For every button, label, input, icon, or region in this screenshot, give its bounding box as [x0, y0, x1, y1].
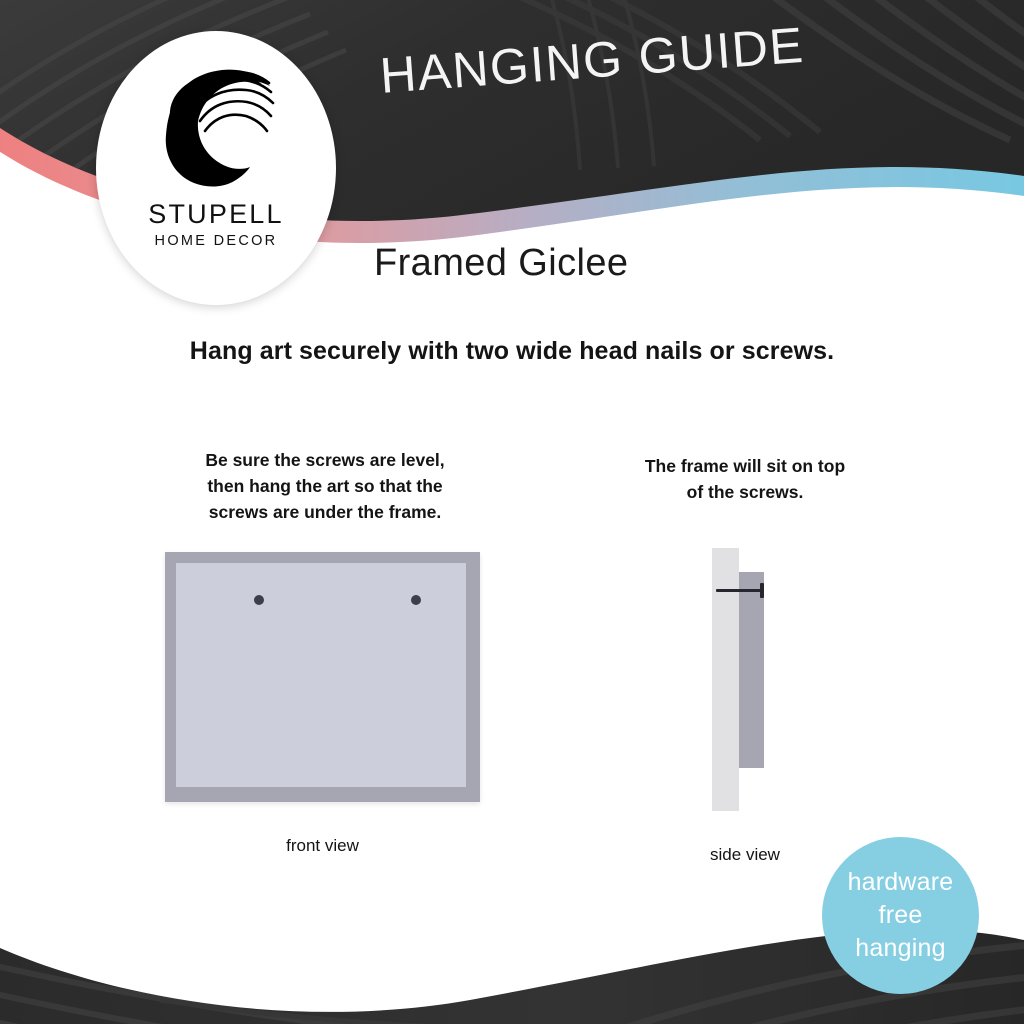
front-caption-line-1: Be sure the screws are level,	[160, 447, 490, 473]
side-caption-line-2: of the screws.	[595, 479, 895, 505]
main-instruction: Hang art securely with two wide head nai…	[0, 337, 1024, 366]
front-view-caption: Be sure the screws are level, then hang …	[160, 447, 490, 525]
frame-mat-area	[176, 563, 466, 787]
brand-name: STUPELL	[148, 199, 283, 230]
hardware-free-hanging-badge: hardware free hanging	[822, 837, 979, 994]
nail-head-icon	[760, 583, 764, 598]
side-view-caption: The frame will sit on top of the screws.	[595, 453, 895, 505]
frame-strip	[739, 572, 764, 768]
brand-logo-badge: STUPELL HOME DECOR	[96, 31, 336, 305]
brand-tagline: HOME DECOR	[155, 233, 278, 249]
front-caption-line-3: screws are under the frame.	[160, 499, 490, 525]
screw-dot-left-icon	[254, 595, 264, 605]
product-type-label: Framed Giclee	[374, 242, 628, 285]
page-title: HANGING GUIDE	[378, 16, 806, 105]
stupell-swoosh-logo-icon	[152, 59, 280, 191]
nail-shaft-icon	[716, 589, 763, 592]
front-view-label: front view	[165, 836, 480, 856]
badge-line-2: free	[879, 899, 923, 932]
badge-line-3: hanging	[855, 932, 945, 965]
front-caption-line-2: then hang the art so that the	[160, 473, 490, 499]
screw-dot-right-icon	[411, 595, 421, 605]
side-view-frame-diagram	[700, 545, 790, 815]
side-caption-line-1: The frame will sit on top	[595, 453, 895, 479]
front-view-frame-diagram	[165, 552, 480, 802]
badge-line-1: hardware	[848, 866, 954, 899]
wall-strip	[712, 548, 739, 811]
side-view-label: side view	[650, 845, 840, 865]
hanging-guide-page: STUPELL HOME DECOR HANGING GUIDE Framed …	[0, 0, 1024, 1024]
